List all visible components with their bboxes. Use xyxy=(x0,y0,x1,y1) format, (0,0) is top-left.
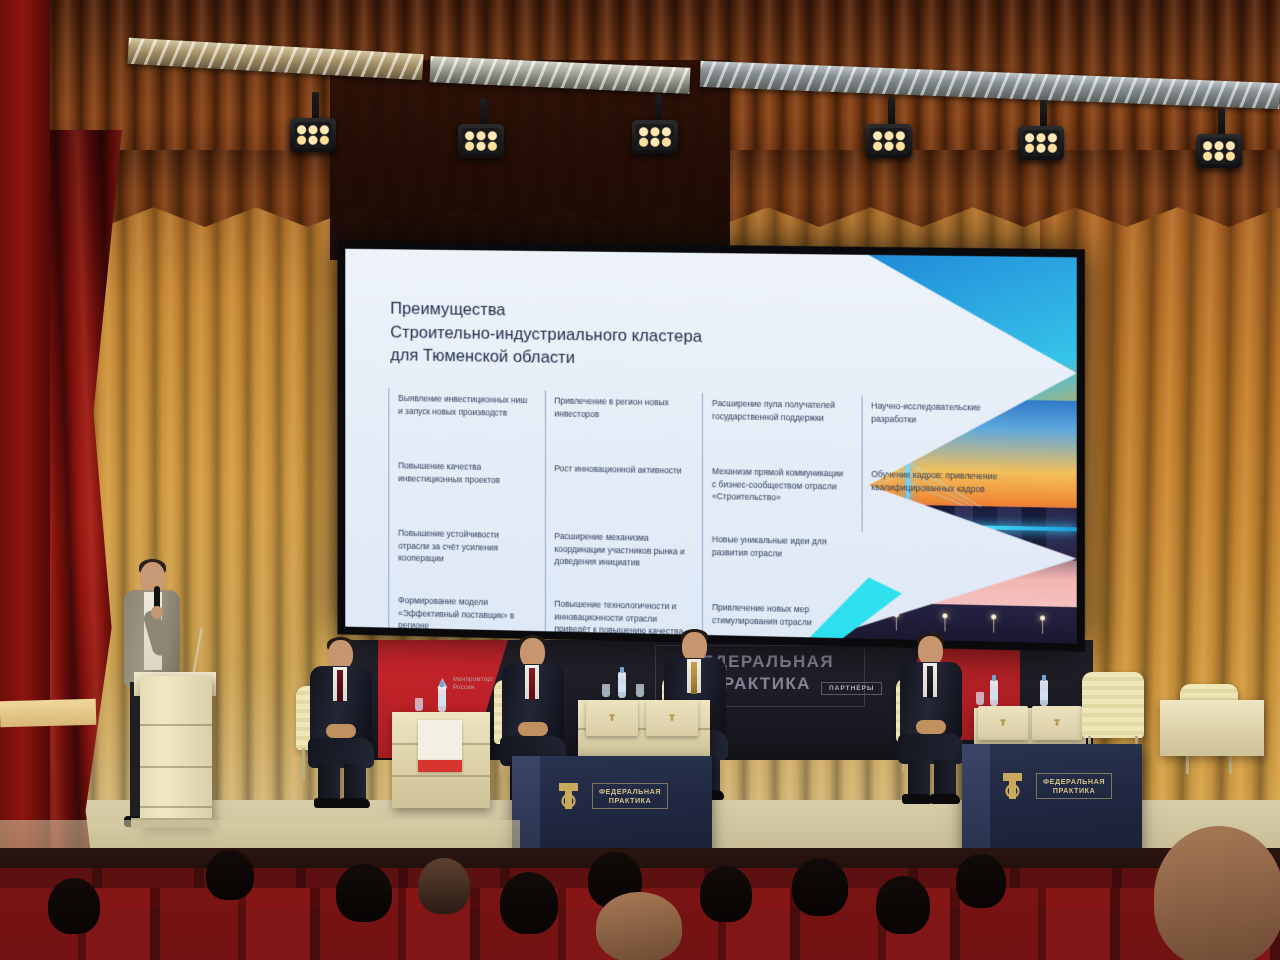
drinking-glass-3 xyxy=(636,684,644,697)
podium-seam-2 xyxy=(140,766,212,768)
desk-center-label: ФЕДЕРАЛЬНАЯ ПРАКТИКА xyxy=(592,783,668,810)
water-bottle-2 xyxy=(618,672,626,698)
audience-head-4 xyxy=(500,872,558,934)
desk-center-branding: ФЕДЕРАЛЬНАЯ ПРАКТИКА xyxy=(554,780,668,812)
slide-title: Преимущества Строительно-индустриального… xyxy=(390,297,817,374)
benefit-text: Формирование модели «Эффективный поставщ… xyxy=(398,594,530,634)
panelist-shoe-right xyxy=(930,794,960,804)
benefit-cell-c2-r2: Рост инновационной активности xyxy=(544,458,688,529)
panelist-hands xyxy=(518,722,548,736)
audience-head-8 xyxy=(792,858,848,916)
panelist-hands xyxy=(326,724,356,738)
benefit-cell-c3-r1: Расширение пула получателей государствен… xyxy=(702,393,847,464)
monogram-icon xyxy=(668,713,676,722)
benefit-cell-c1-r4: Формирование модели «Эффективный поставщ… xyxy=(388,590,530,644)
desk-label-line-2: ПРАКТИКА xyxy=(1043,786,1105,795)
audience-head-10 xyxy=(956,854,1006,908)
benefit-text: Обучение кадров: привлечение квалифициро… xyxy=(871,468,1007,496)
audience-head-3 xyxy=(418,858,470,914)
nameplate-1 xyxy=(586,700,638,736)
nameplate-3 xyxy=(978,706,1028,740)
benefit-cell-c1-r3: Повышение устойчивости отрасли за счёт у… xyxy=(388,523,530,593)
panelist-hands xyxy=(916,720,946,734)
benefit-cell-c4-r3 xyxy=(861,532,1007,604)
federal-practice-monogram-icon xyxy=(554,780,583,812)
panelist-tie xyxy=(337,670,343,702)
benefit-text xyxy=(870,536,1007,539)
spotlight-icon-2 xyxy=(458,124,504,158)
monogram-icon xyxy=(608,713,616,722)
document-sheet-1 xyxy=(418,720,462,762)
benefit-text: Рост инновационной активности xyxy=(554,462,688,477)
panelist-tie xyxy=(927,666,933,698)
water-bottle-3 xyxy=(990,680,998,706)
speaker-head xyxy=(140,562,165,593)
partners-badge: ПАРТНЁРЫ xyxy=(821,682,882,695)
desk-label-line-1: ФЕДЕРАЛЬНАЯ xyxy=(1043,777,1105,786)
benefit-text: Привлечение в регион новых инвесторов xyxy=(554,395,688,422)
drinking-glass-2 xyxy=(602,684,610,697)
drinking-glass-4 xyxy=(976,692,984,705)
benefit-cell-c1-r2: Повышение качества инвестиционных проект… xyxy=(388,455,530,525)
presentation-slide: Преимущества Строительно-индустриального… xyxy=(345,249,1076,644)
slide-benefits-grid: Выявление инвестиционных ниш и запуск но… xyxy=(388,388,1007,644)
nameplate-2 xyxy=(646,700,698,736)
panelist-tie xyxy=(529,668,535,700)
curtain-gold-tieback xyxy=(0,699,96,728)
nameplate-4 xyxy=(1032,706,1082,740)
water-bottle-4 xyxy=(1040,680,1048,706)
benefit-cell-c4-r1: Научно-исследовательские разработки xyxy=(861,395,1007,466)
audience-head-foreground xyxy=(1154,826,1280,960)
projection-screen: Преимущества Строительно-индустриального… xyxy=(337,241,1084,652)
benefit-text: Выявление инвестиционных ниш и запуск но… xyxy=(398,392,530,419)
panelist-1 xyxy=(306,640,376,800)
desk-center: ФЕДЕРАЛЬНАЯ ПРАКТИКА xyxy=(512,756,712,854)
audience-head-11 xyxy=(48,878,100,934)
desk-right: ФЕДЕРАЛЬНАЯ ПРАКТИКА xyxy=(962,744,1142,850)
benefit-text: Привлечение новых мер стимулирования отр… xyxy=(712,601,847,629)
benefit-cell-c2-r3: Расширение механизма координации участни… xyxy=(544,526,688,597)
federal-practice-monogram-icon xyxy=(998,770,1027,802)
benefit-cell-c3-r2: Механизм прямой коммуникации с бизнес-со… xyxy=(702,461,847,532)
panelist-4 xyxy=(896,636,966,796)
desk-right-label: ФЕДЕРАЛЬНАЯ ПРАКТИКА xyxy=(1036,773,1112,800)
panelist-shoe-right xyxy=(340,798,370,808)
spotlight-icon-4 xyxy=(866,124,912,158)
podium-seam-1 xyxy=(140,724,212,726)
benefit-cell-c2-r1: Привлечение в регион новых инвесторов xyxy=(544,390,688,460)
speaker-hand xyxy=(151,606,163,619)
benefit-text: Расширение пула получателей государствен… xyxy=(712,397,847,424)
spotlight-icon-5 xyxy=(1018,126,1064,160)
monogram-icon xyxy=(999,718,1007,727)
side-table-far-right xyxy=(1160,700,1264,756)
sponsor-logo-minpromtorg: МинпромторгРоссии xyxy=(453,676,494,692)
desk-right-branding: ФЕДЕРАЛЬНАЯ ПРАКТИКА xyxy=(998,770,1112,802)
benefit-cell-c1-r1: Выявление инвестиционных ниш и запуск но… xyxy=(388,388,530,458)
stage-curtain-red-left-edge xyxy=(0,0,50,960)
audience-head-6 xyxy=(596,892,682,960)
monogram-icon xyxy=(1053,718,1061,727)
desk-right-side xyxy=(962,744,990,850)
audience-head-1 xyxy=(206,850,254,900)
drinking-glass-1 xyxy=(415,698,423,711)
desk-label-line-1: ФЕДЕРАЛЬНАЯ xyxy=(599,787,661,796)
panelist-shin-right xyxy=(344,764,366,802)
benefit-cell-c3-r3: Новые уникальные идеи для развития отрас… xyxy=(702,529,847,600)
benefit-text: Механизм прямой коммуникации с бизнес-со… xyxy=(712,465,847,505)
spotlight-icon-1 xyxy=(290,118,336,152)
podium-seam-3 xyxy=(140,806,212,808)
red-folder-1 xyxy=(418,760,462,772)
panelist-shin-left xyxy=(908,760,930,798)
audience-head-2 xyxy=(336,864,392,922)
panelist-shin-right xyxy=(934,760,956,798)
benefit-cell-c4-r2: Обучение кадров: привлечение квалифициро… xyxy=(861,464,1007,535)
spotlight-icon-3 xyxy=(632,120,678,154)
panelist-tie xyxy=(691,662,697,694)
panelist-shoe-left xyxy=(902,794,932,804)
armchair-empty-1 xyxy=(1082,672,1144,738)
desk-label-line-2: ПРАКТИКА xyxy=(599,796,661,805)
audience-head-9 xyxy=(876,876,930,934)
benefit-text xyxy=(870,605,1007,608)
audience-area xyxy=(0,848,1280,960)
benefit-text: Повышение качества инвестиционных проект… xyxy=(398,459,530,486)
audience-head-7 xyxy=(700,866,752,922)
benefit-text: Расширение механизма координации участни… xyxy=(554,530,688,570)
benefit-text: Научно-исследовательские разработки xyxy=(871,400,1007,428)
panelist-shin-left xyxy=(318,764,340,802)
conference-hall-scene: ФЕДЕРАЛЬНАЯ ПРАКТИКА ПАРТНЁРЫ Минпромтор… xyxy=(0,0,1280,960)
water-bottle-1 xyxy=(438,686,446,712)
spotlight-icon-6 xyxy=(1196,134,1242,168)
benefit-text: Повышение устойчивости отрасли за счёт у… xyxy=(398,527,530,567)
benefit-text: Новые уникальные идеи для развития отрас… xyxy=(712,533,847,561)
